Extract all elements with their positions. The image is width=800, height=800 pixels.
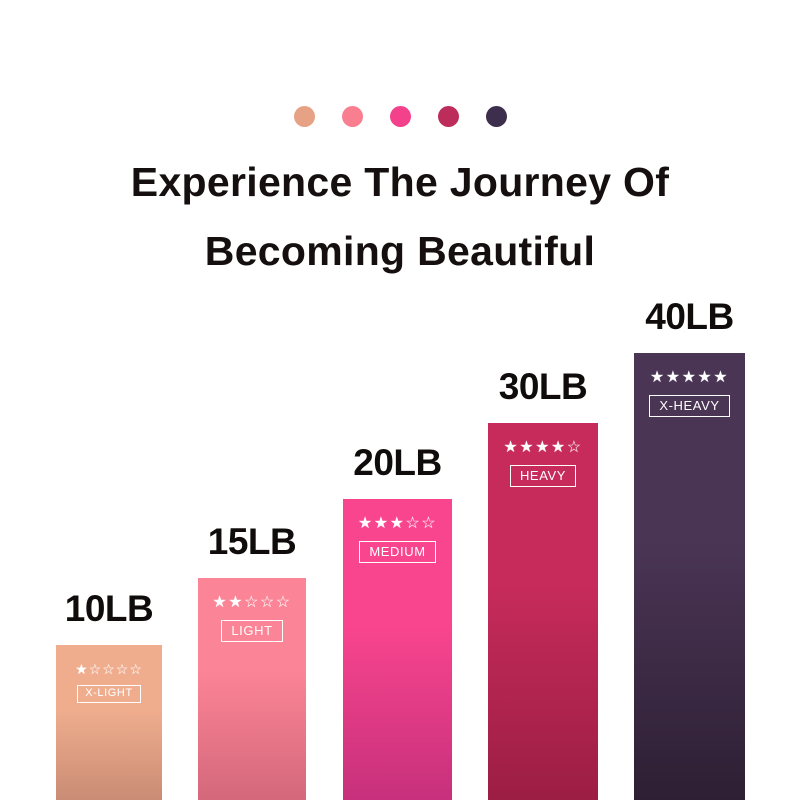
resistance-level-bar-chart: 10LB★☆☆☆☆X-LIGHT15LB★★☆☆☆LIGHT20LB★★★☆☆M… [0, 0, 800, 800]
bar-weight-label: 40LB [645, 298, 733, 335]
bar-column[interactable]: ★☆☆☆☆X-LIGHT [56, 645, 162, 800]
level-badge: HEAVY [510, 465, 576, 487]
bar-column[interactable]: ★★★★★X-HEAVY [634, 353, 745, 800]
level-badge: X-LIGHT [77, 685, 141, 703]
star-rating-icon: ★★★★★ [650, 370, 729, 386]
bar-fill [634, 353, 745, 800]
bar-content: ★★★☆☆MEDIUM [343, 499, 452, 563]
bar-group-x-heavy[interactable]: 40LB★★★★★X-HEAVY [634, 0, 745, 800]
star-rating-icon: ★★★☆☆ [358, 516, 437, 532]
bar-weight-label: 30LB [499, 368, 587, 405]
level-badge: X-HEAVY [649, 395, 729, 417]
star-rating-icon: ★☆☆☆☆ [75, 662, 143, 676]
bar-group-x-light[interactable]: 10LB★☆☆☆☆X-LIGHT [56, 0, 162, 800]
poster-canvas: Experience The Journey Of Becoming Beaut… [0, 0, 800, 800]
bar-weight-label: 15LB [208, 523, 296, 560]
bar-content: ★★★★☆HEAVY [488, 423, 598, 487]
bar-column[interactable]: ★★☆☆☆LIGHT [198, 578, 306, 800]
bar-group-medium[interactable]: 20LB★★★☆☆MEDIUM [343, 0, 452, 800]
bar-content: ★★☆☆☆LIGHT [198, 578, 306, 642]
level-badge: MEDIUM [359, 541, 435, 563]
bar-group-light[interactable]: 15LB★★☆☆☆LIGHT [198, 0, 306, 800]
bar-weight-label: 10LB [65, 590, 153, 627]
bar-weight-label: 20LB [353, 444, 441, 481]
bar-column[interactable]: ★★★☆☆MEDIUM [343, 499, 452, 800]
star-rating-icon: ★★★★☆ [503, 440, 582, 456]
bar-column[interactable]: ★★★★☆HEAVY [488, 423, 598, 800]
level-badge: LIGHT [221, 620, 282, 642]
bar-group-heavy[interactable]: 30LB★★★★☆HEAVY [488, 0, 598, 800]
bar-content: ★★★★★X-HEAVY [634, 353, 745, 417]
bar-content: ★☆☆☆☆X-LIGHT [56, 645, 162, 703]
star-rating-icon: ★★☆☆☆ [212, 595, 291, 611]
